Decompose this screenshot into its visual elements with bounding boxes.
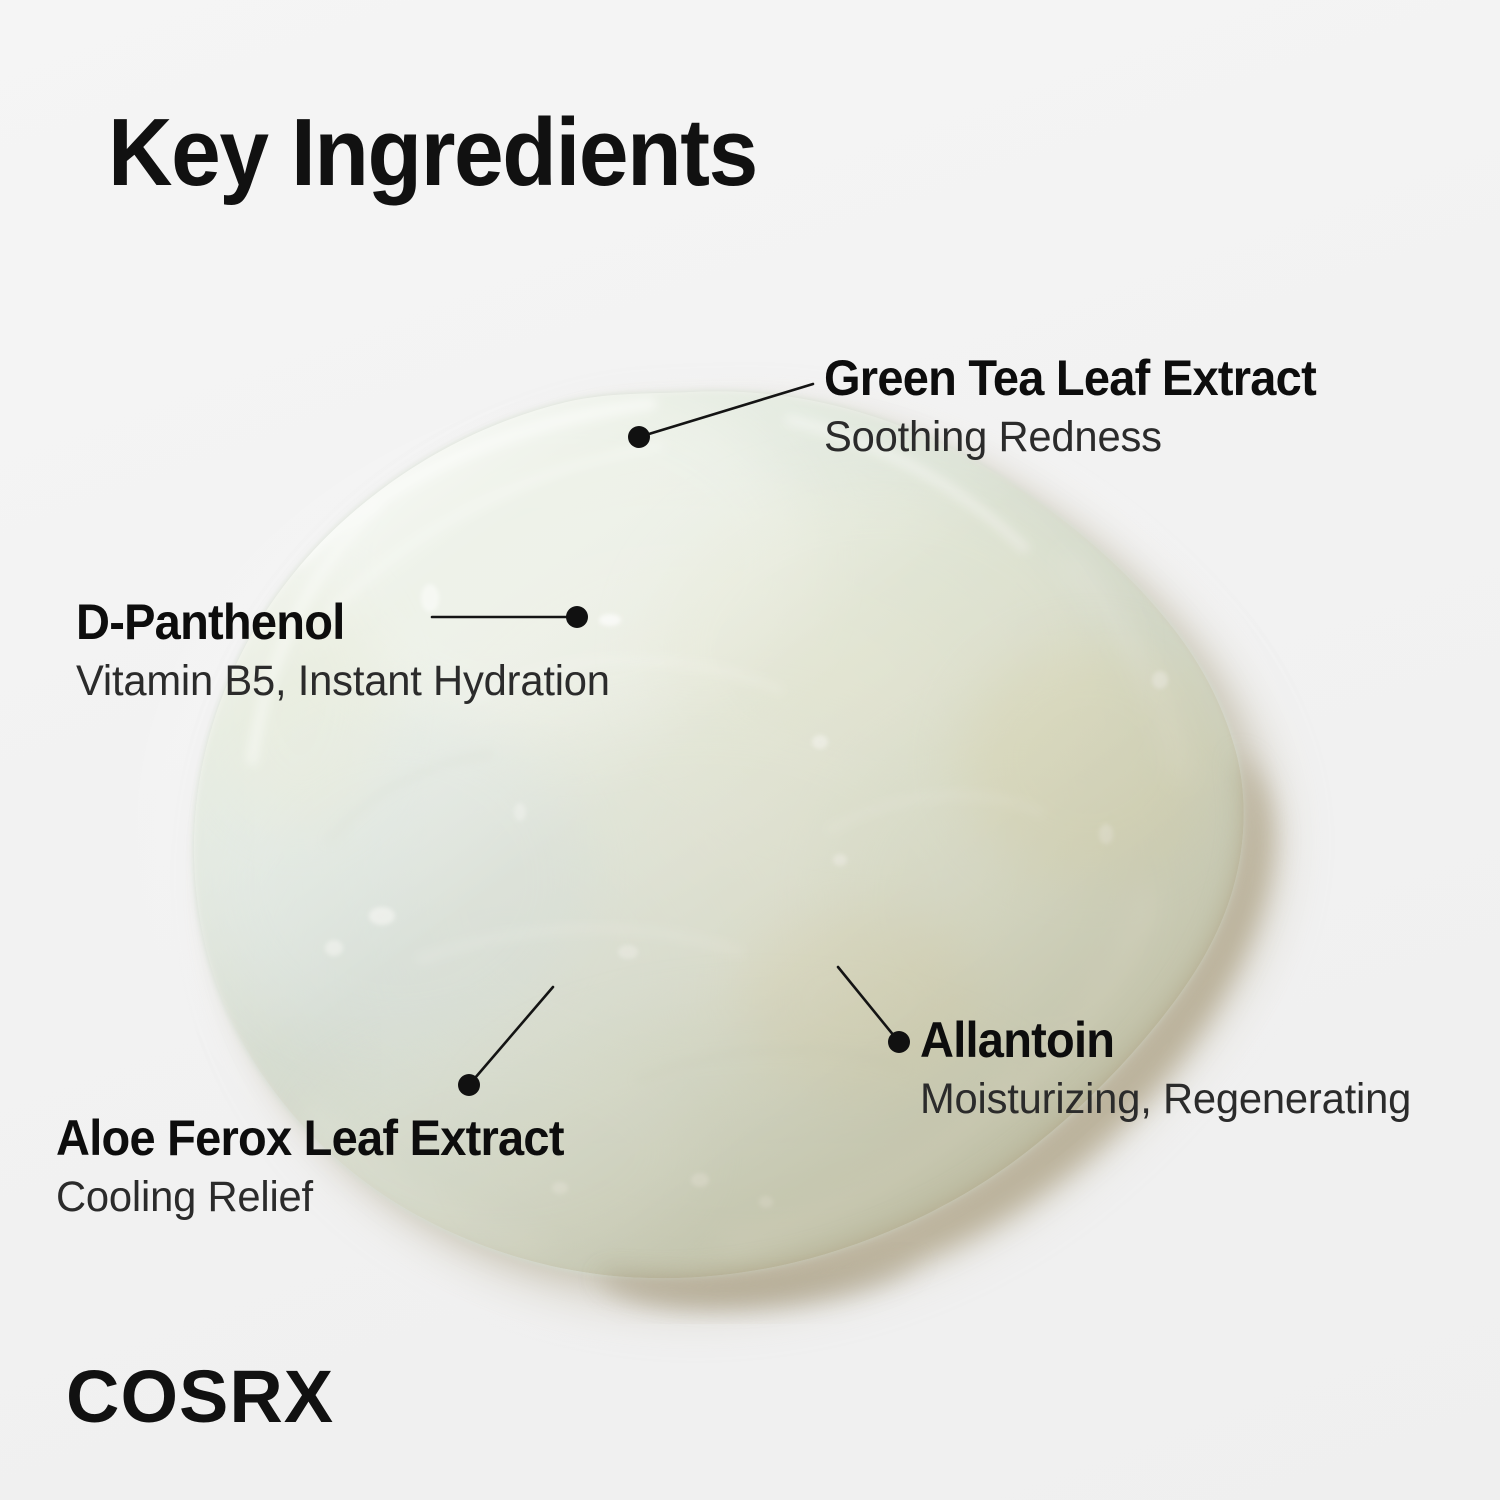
gel-swatch-image	[0, 0, 1500, 1500]
callout-d-panthenol: D-Panthenol Vitamin B5, Instant Hydratio…	[76, 596, 626, 705]
gel-swatch-svg	[0, 0, 1500, 1500]
brand-logo: COSRX	[66, 1360, 334, 1434]
callout-allantoin: Allantoin Moisturizing, Regenerating	[920, 1014, 1426, 1123]
callout-title: Aloe Ferox Leaf Extract	[56, 1112, 564, 1165]
callout-aloe-ferox-leaf-extract: Aloe Ferox Leaf Extract Cooling Relief	[56, 1112, 596, 1221]
callout-title: D-Panthenol	[76, 596, 593, 649]
callout-subtitle: Vitamin B5, Instant Hydration	[76, 657, 610, 705]
key-ingredients-graphic: Key Ingredients Green Tea Leaf Extract S…	[0, 0, 1500, 1500]
callout-title: Allantoin	[920, 1014, 1396, 1067]
callout-subtitle: Soothing Redness	[824, 413, 1332, 461]
callout-subtitle: Cooling Relief	[56, 1173, 580, 1221]
page-title: Key Ingredients	[108, 104, 757, 202]
callout-green-tea-leaf-extract: Green Tea Leaf Extract Soothing Redness	[824, 352, 1347, 461]
callout-title: Green Tea Leaf Extract	[824, 352, 1316, 405]
callout-subtitle: Moisturizing, Regenerating	[920, 1075, 1411, 1123]
